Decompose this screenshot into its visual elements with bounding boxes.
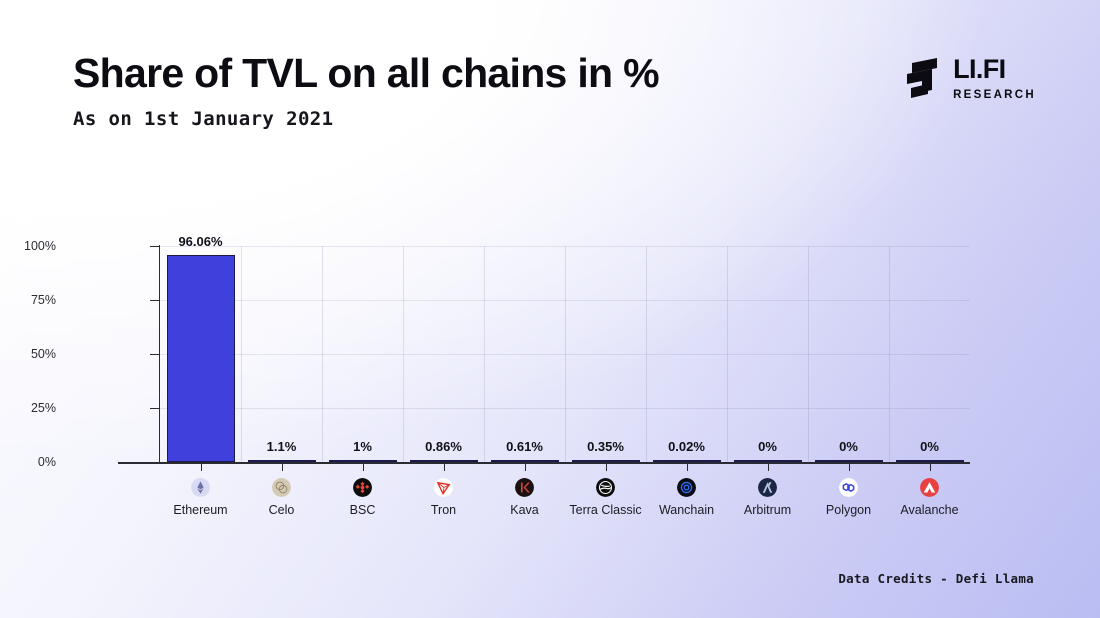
bar-value-label: 1.1% (267, 439, 297, 454)
y-tick-label: 75% (0, 293, 56, 307)
x-gridline (322, 246, 323, 462)
bar-polygon[interactable] (815, 460, 883, 462)
chart-figure: Share of TVL on all chains in % As on 1s… (0, 0, 1100, 618)
x-tick-mark (768, 463, 769, 471)
bar-value-label: 0% (920, 439, 939, 454)
brand-tagline: RESEARCH (953, 89, 1036, 101)
ethereum-icon (191, 478, 210, 497)
bar-avalanche[interactable] (896, 460, 964, 462)
x-tick-mark (363, 463, 364, 471)
bar-tron[interactable] (410, 460, 478, 462)
y-tick-mark (150, 408, 159, 409)
x-gridline (403, 246, 404, 462)
terra-classic-icon (596, 478, 615, 497)
header-block: Share of TVL on all chains in % As on 1s… (73, 52, 659, 130)
bar-value-label: 0.86% (425, 439, 462, 454)
x-tick-mark (606, 463, 607, 471)
plot-area (160, 246, 970, 462)
avalanche-icon (920, 478, 939, 497)
bar-kava[interactable] (491, 460, 559, 462)
bar-value-label: 0% (839, 439, 858, 454)
bar-arbitrum[interactable] (734, 460, 802, 462)
x-gridline (565, 246, 566, 462)
y-tick-mark (150, 462, 159, 463)
x-axis-spine (118, 462, 970, 464)
tron-icon (434, 478, 453, 497)
x-tick-mark (201, 463, 202, 471)
brand-name: LI.FI (953, 56, 1006, 83)
y-tick-label: 100% (0, 239, 56, 253)
y-tick-mark (150, 300, 159, 301)
y-tick-mark (150, 354, 159, 355)
x-tick-mark (444, 463, 445, 471)
x-category-label: Avalanche (870, 503, 990, 517)
x-tick-mark (930, 463, 931, 471)
y-tick-mark (150, 246, 159, 247)
bar-value-label: 1% (353, 439, 372, 454)
brand-logo: LI.FI RESEARCH (904, 56, 1036, 101)
bar-ethereum[interactable] (167, 255, 235, 462)
bar-terra-classic[interactable] (572, 460, 640, 462)
bsc-icon (353, 478, 372, 497)
bar-bsc[interactable] (329, 460, 397, 462)
x-tick-mark (525, 463, 526, 471)
arbitrum-icon (758, 478, 777, 497)
bar-value-label: 0.61% (506, 439, 543, 454)
x-category-avalanche: Avalanche (870, 478, 990, 517)
x-gridline (889, 246, 890, 462)
data-credits: Data Credits - Defi Llama (838, 571, 1034, 586)
polygon-icon (839, 478, 858, 497)
bar-wanchain[interactable] (653, 460, 721, 462)
brand-logo-text: LI.FI RESEARCH (953, 56, 1036, 101)
bar-value-label: 0% (758, 439, 777, 454)
x-gridline (727, 246, 728, 462)
y-tick-label: 50% (0, 347, 56, 361)
bar-value-label: 96.06% (178, 234, 222, 249)
x-gridline (241, 246, 242, 462)
wanchain-icon (677, 478, 696, 497)
bar-value-label: 0.02% (668, 439, 705, 454)
x-gridline (646, 246, 647, 462)
y-tick-label: 25% (0, 401, 56, 415)
x-tick-mark (687, 463, 688, 471)
kava-icon (515, 478, 534, 497)
x-tick-mark (849, 463, 850, 471)
page-title: Share of TVL on all chains in % (73, 52, 659, 95)
x-tick-mark (282, 463, 283, 471)
x-gridline (484, 246, 485, 462)
bar-celo[interactable] (248, 460, 316, 462)
page-subtitle: As on 1st January 2021 (73, 108, 659, 130)
bar-value-label: 0.35% (587, 439, 624, 454)
li-fi-logo-icon (904, 57, 940, 101)
celo-icon (272, 478, 291, 497)
y-tick-label: 0% (0, 455, 56, 469)
x-gridline (808, 246, 809, 462)
